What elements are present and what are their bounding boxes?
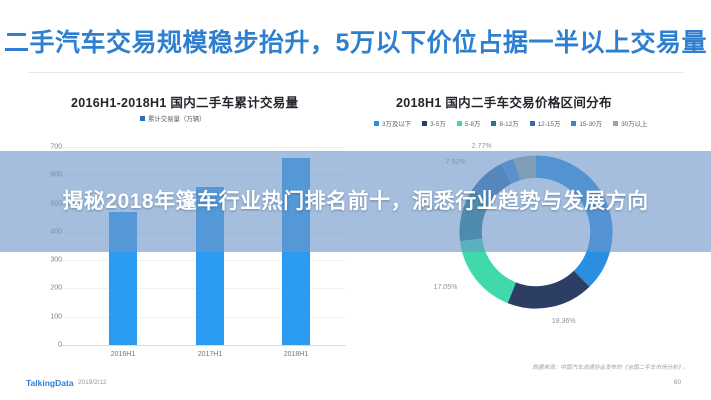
legend-swatch-icon — [422, 121, 427, 126]
legend-item: 30万以上 — [613, 119, 647, 128]
legend-swatch-icon — [613, 121, 618, 126]
y-axis-tick-label: 700 — [38, 144, 62, 151]
title-divider — [28, 72, 683, 73]
legend-item: 5-8万 — [457, 119, 481, 128]
legend-label: 15-30万 — [579, 119, 602, 128]
legend-label: 30万以上 — [621, 119, 647, 128]
pie-slice-label: 17.05% — [434, 284, 458, 291]
source-note: 数据来源：中国汽车流通协会发布的《全国二手车市场分析》。 — [532, 363, 689, 371]
legend-label: 8-12万 — [499, 119, 518, 128]
slide-canvas: 二手汽车交易规模稳步抬升，5万以下价位占据一半以上交易量 2016H1-2018… — [0, 0, 711, 400]
x-axis-tick-label: 2016H1 — [95, 351, 151, 358]
legend-swatch-icon — [491, 121, 496, 126]
pie-slice-label: 18.36% — [552, 318, 576, 325]
pie-slice — [512, 279, 582, 298]
bar-chart-legend: 累计交易量（万辆） — [140, 114, 213, 123]
y-axis-tick-label: 100 — [38, 313, 62, 320]
page-title: 二手汽车交易规模稳步抬升，5万以下价位占据一半以上交易量 — [0, 22, 711, 64]
legend-item: 12-15万 — [530, 119, 561, 128]
overlay-title: 揭秘2018年篷车行业热门排名前十，洞悉行业趋势与发展方向 — [36, 186, 676, 218]
x-axis-tick-label: 2018H1 — [268, 351, 324, 358]
grid-line — [60, 147, 346, 148]
legend-swatch-icon — [571, 121, 576, 126]
y-axis-tick-label: 300 — [38, 257, 62, 264]
legend-item: 15-30万 — [571, 119, 602, 128]
brand-logo: TalkingData — [26, 378, 74, 388]
legend-item: 3万及以下 — [374, 119, 411, 128]
pie-chart-title: 2018H1 国内二手车交易价格区间分布 — [396, 92, 612, 111]
legend-item: 3-5万 — [422, 119, 446, 128]
legend-label: 5-8万 — [465, 119, 481, 128]
pie-chart-legend: 3万及以下3-5万5-8万8-12万12-15万15-30万30万以上 — [374, 119, 654, 128]
x-axis-tick-label: 2017H1 — [182, 351, 238, 358]
legend-label: 12-15万 — [538, 119, 561, 128]
slide-date: 2019/2/12 — [78, 379, 106, 386]
legend-label: 3-5万 — [430, 119, 446, 128]
bar-chart-title: 2016H1-2018H1 国内二手车累计交易量 — [71, 92, 298, 111]
page-number: 60 — [674, 379, 681, 386]
y-axis-tick-label: 0 — [38, 342, 62, 349]
legend-swatch-icon — [457, 121, 462, 126]
legend-item: 累计交易量（万辆） — [140, 114, 206, 123]
slide-headline-bar: 二手汽车交易规模稳步抬升，5万以下价位占据一半以上交易量 — [0, 22, 711, 64]
legend-label: 累计交易量（万辆） — [148, 114, 206, 123]
pie-slice-label: 2.77% — [472, 143, 492, 150]
legend-swatch-icon — [140, 116, 145, 121]
legend-item: 8-12万 — [491, 119, 518, 128]
grid-line — [60, 345, 346, 346]
overlay-banner: 揭秘2018年篷车行业热门排名前十，洞悉行业趋势与发展方向 — [0, 151, 711, 252]
legend-swatch-icon — [374, 121, 379, 126]
legend-swatch-icon — [530, 121, 535, 126]
legend-label: 3万及以下 — [382, 119, 411, 128]
y-axis-tick-label: 200 — [38, 285, 62, 292]
